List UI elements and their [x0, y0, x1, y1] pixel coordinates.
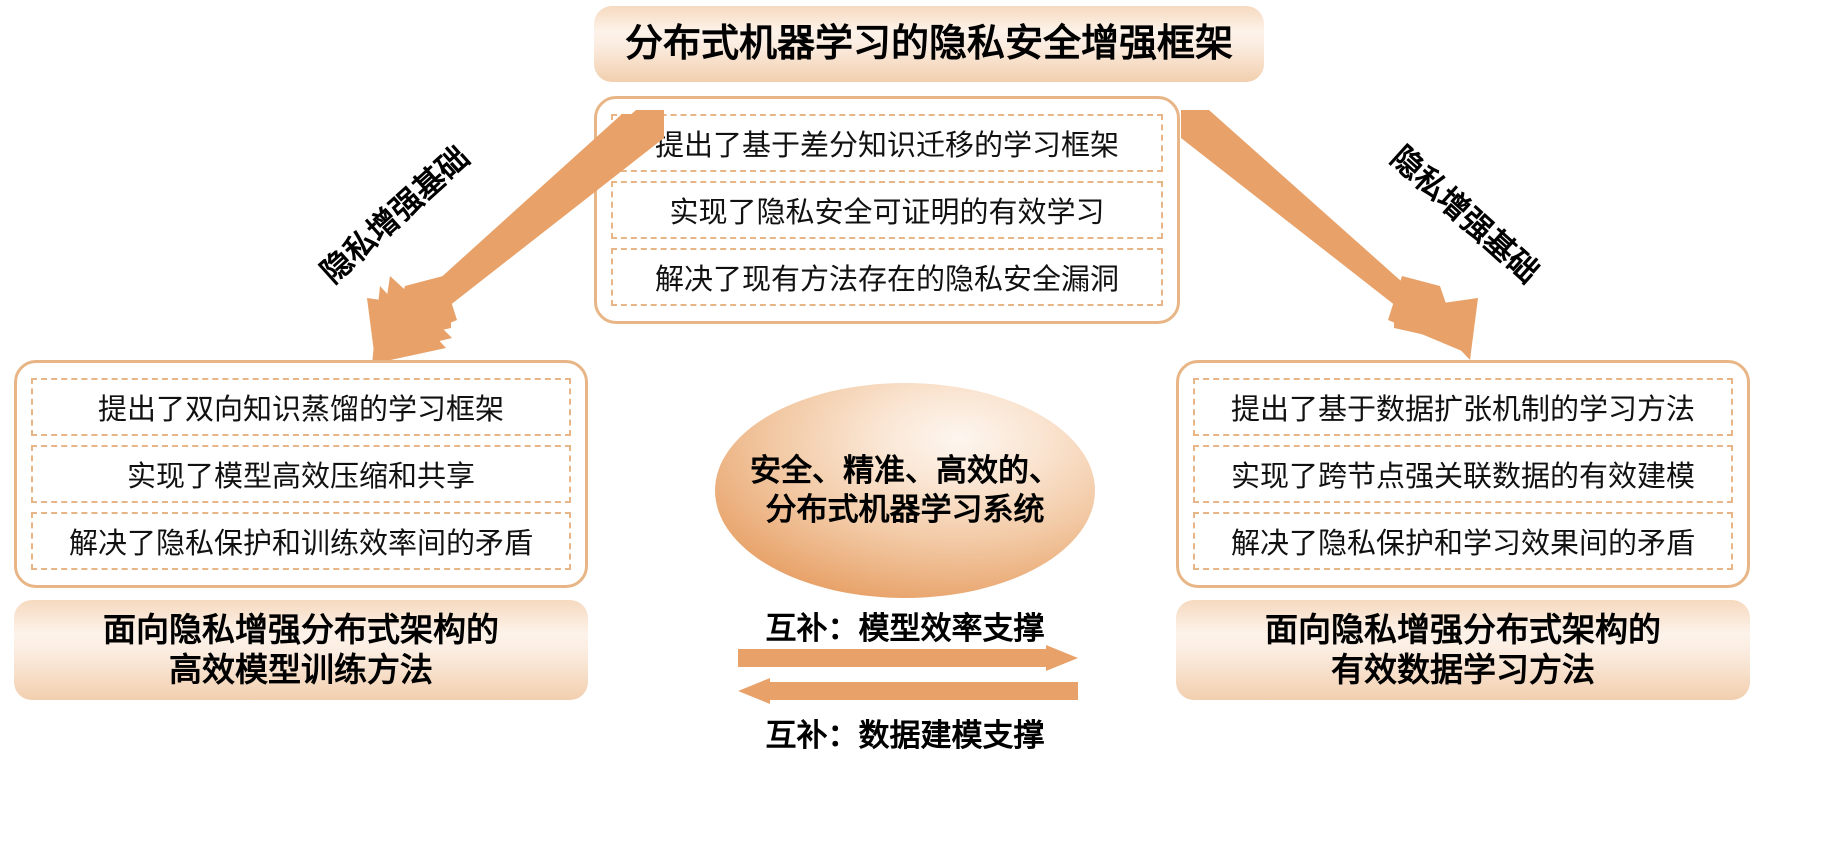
left-panel-item-2-label: 实现了模型高效压缩和共享: [127, 453, 475, 495]
center-goal-ellipse: 安全、精准、高效的、 分布式机器学习系统: [715, 383, 1095, 598]
left-diagonal-arrow-shape: [365, 108, 665, 363]
top-contributions-panel: 提出了基于差分知识迁移的学习框架 实现了隐私安全可证明的有效学习 解决了现有方法…: [594, 96, 1180, 324]
right-panel-item-3: 解决了隐私保护和学习效果间的矛盾: [1193, 512, 1733, 570]
center-line-2: 分布式机器学习系统: [766, 491, 1045, 530]
right-panel-item-1-label: 提出了基于数据扩张机制的学习方法: [1231, 386, 1695, 428]
title-plate: 分布式机器学习的隐私安全增强框架: [594, 6, 1264, 82]
left-panel-item-3-label: 解决了隐私保护和训练效率间的矛盾: [69, 520, 533, 562]
right-panel-item-3-label: 解决了隐私保护和学习效果间的矛盾: [1231, 520, 1695, 562]
exchange-top-label: 互补：模型效率支撑: [640, 603, 1170, 648]
right-plate-line-2: 有效数据学习方法: [1331, 650, 1595, 690]
exchange-top-label-text: 互补：模型效率支撑: [766, 611, 1045, 646]
right-branch-panel: 提出了基于数据扩张机制的学习方法 实现了跨节点强关联数据的有效建模 解决了隐私保…: [1176, 360, 1750, 588]
left-panel-item-1-label: 提出了双向知识蒸馏的学习框架: [98, 386, 504, 428]
right-branch-plate: 面向隐私增强分布式架构的 有效数据学习方法: [1176, 600, 1750, 700]
left-panel-item-1: 提出了双向知识蒸馏的学习框架: [31, 378, 571, 436]
arrow-left-data-modeling: [738, 678, 1078, 704]
arrow-right-model-efficiency: [738, 645, 1078, 671]
left-panel-item-2: 实现了模型高效压缩和共享: [31, 445, 571, 503]
top-panel-item-2: 实现了隐私安全可证明的有效学习: [611, 181, 1163, 239]
top-panel-item-2-label: 实现了隐私安全可证明的有效学习: [669, 189, 1104, 231]
top-panel-item-1-label: 提出了基于差分知识迁移的学习框架: [655, 122, 1119, 164]
left-plate-line-1: 面向隐私增强分布式架构的: [103, 610, 499, 650]
left-branch-plate: 面向隐私增强分布式架构的 高效模型训练方法: [14, 600, 588, 700]
right-diagonal-arrow: [1180, 108, 1480, 363]
top-panel-item-3: 解决了现有方法存在的隐私安全漏洞: [611, 248, 1163, 306]
top-panel-item-3-label: 解决了现有方法存在的隐私安全漏洞: [655, 256, 1119, 298]
left-branch-panel: 提出了双向知识蒸馏的学习框架 实现了模型高效压缩和共享 解决了隐私保护和训练效率…: [14, 360, 588, 588]
title-text: 分布式机器学习的隐私安全增强框架: [625, 21, 1233, 67]
exchange-bottom-label-text: 互补：数据建模支撑: [766, 718, 1045, 753]
diagram-canvas: 分布式机器学习的隐私安全增强框架 提出了基于差分知识迁移的学习框架 实现了隐私安…: [0, 0, 1842, 844]
left-plate-line-2: 高效模型训练方法: [169, 650, 433, 690]
exchange-bottom-label: 互补：数据建模支撑: [640, 710, 1170, 755]
left-panel-item-3: 解决了隐私保护和训练效率间的矛盾: [31, 512, 571, 570]
right-panel-item-2: 实现了跨节点强关联数据的有效建模: [1193, 445, 1733, 503]
right-panel-item-1: 提出了基于数据扩张机制的学习方法: [1193, 378, 1733, 436]
right-panel-item-2-label: 实现了跨节点强关联数据的有效建模: [1231, 453, 1695, 495]
top-panel-item-1: 提出了基于差分知识迁移的学习框架: [611, 114, 1163, 172]
center-line-1: 安全、精准、高效的、: [750, 452, 1060, 491]
right-plate-line-1: 面向隐私增强分布式架构的: [1265, 610, 1661, 650]
